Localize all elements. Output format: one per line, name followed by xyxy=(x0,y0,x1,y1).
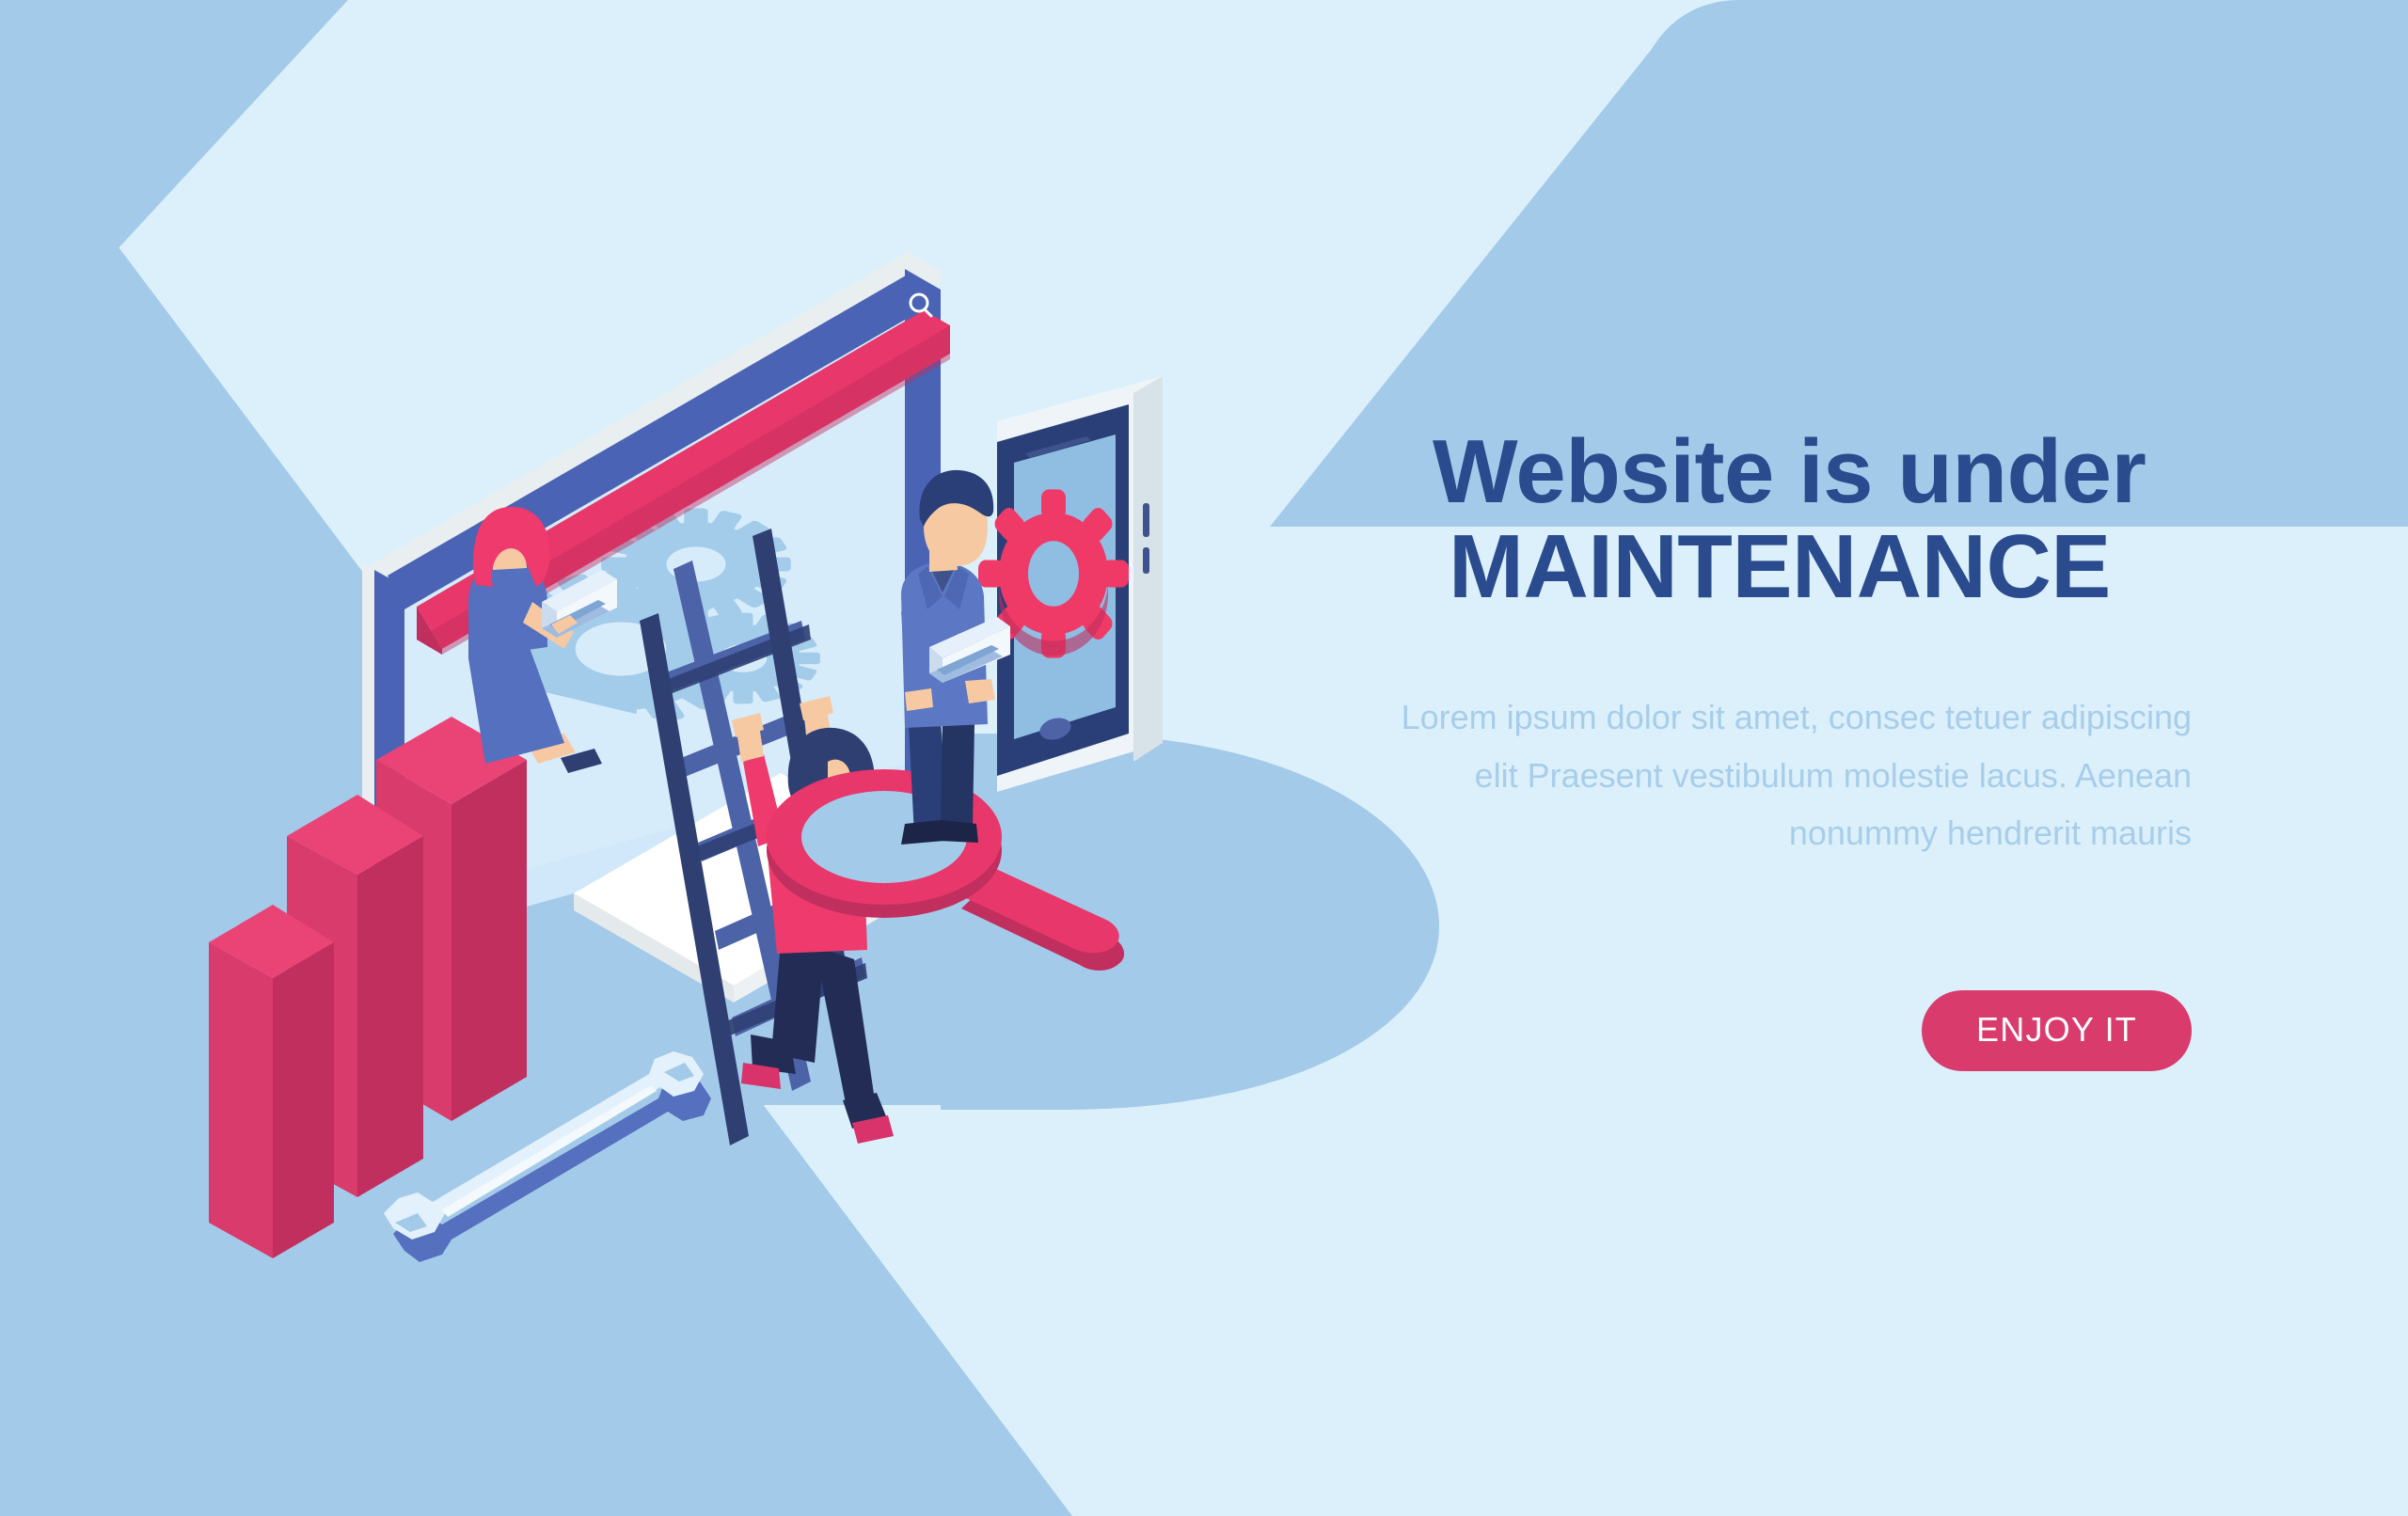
page-title: Website is under MAINTENANCE xyxy=(1317,425,2192,615)
headline-line-2: MAINTENANCE xyxy=(1317,520,2192,615)
illustration-stage: Website is under MAINTENANCE Lorem ipsum… xyxy=(0,0,2408,1516)
hero-copy: Website is under MAINTENANCE Lorem ipsum… xyxy=(1317,425,2192,862)
enjoy-it-button[interactable]: ENJOY IT xyxy=(1922,990,2192,1071)
cta-container: ENJOY IT xyxy=(1317,990,2192,1071)
tablet-device xyxy=(978,376,1163,792)
headline-line-1: Website is under xyxy=(1317,425,2192,520)
hero-body-text: Lorem ipsum dolor sit amet, consec tetue… xyxy=(1364,615,2192,863)
